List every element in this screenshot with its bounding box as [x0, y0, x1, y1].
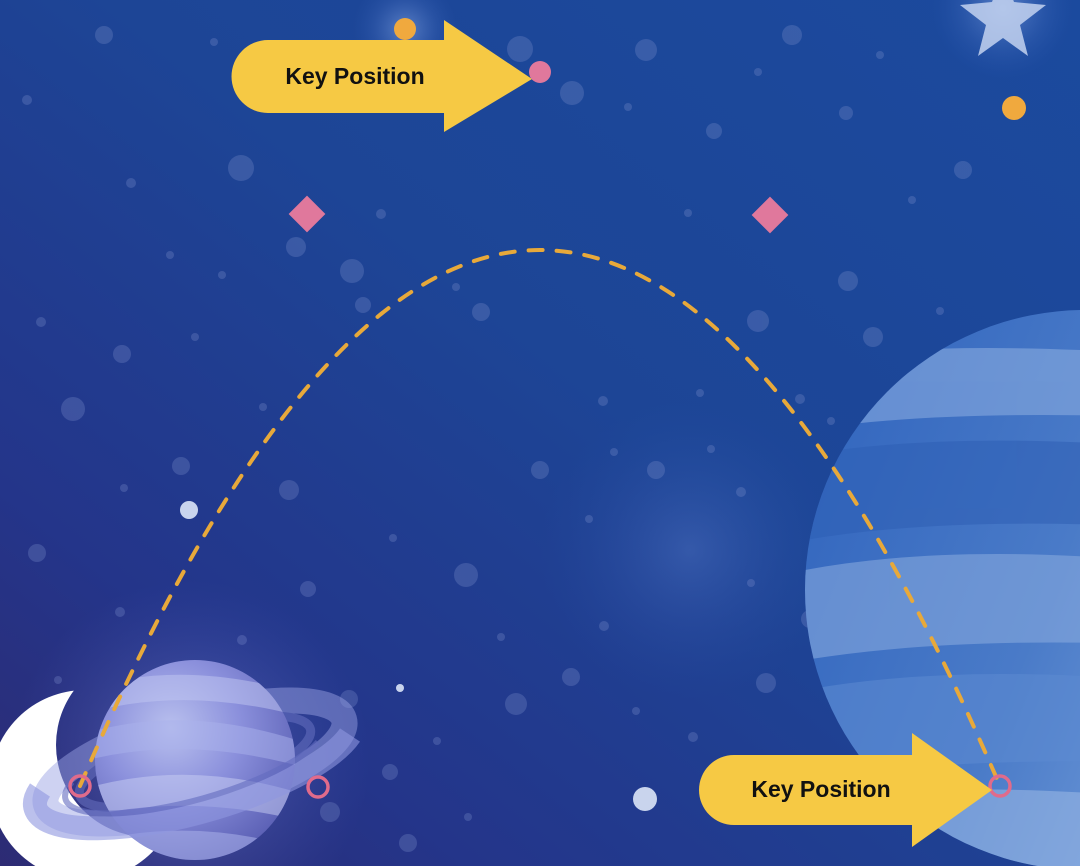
ground-reference-marker[interactable] [308, 777, 328, 797]
apex-callout-label: Key Position [285, 63, 424, 89]
apex-callout-arrow[interactable]: Key Position [232, 20, 532, 132]
trajectory-layer: Key Position Key Position [0, 0, 1080, 866]
space-trajectory-illustration: Key Position Key Position [0, 0, 1080, 866]
descent-diamond-marker[interactable] [752, 197, 789, 234]
landing-callout-label: Key Position [751, 776, 890, 802]
apex-marker[interactable] [529, 61, 551, 83]
ascent-diamond-marker[interactable] [289, 196, 326, 233]
projectile-trajectory-path [80, 250, 1000, 786]
landing-marker[interactable] [990, 776, 1010, 796]
landing-callout-arrow[interactable]: Key Position [699, 733, 992, 847]
